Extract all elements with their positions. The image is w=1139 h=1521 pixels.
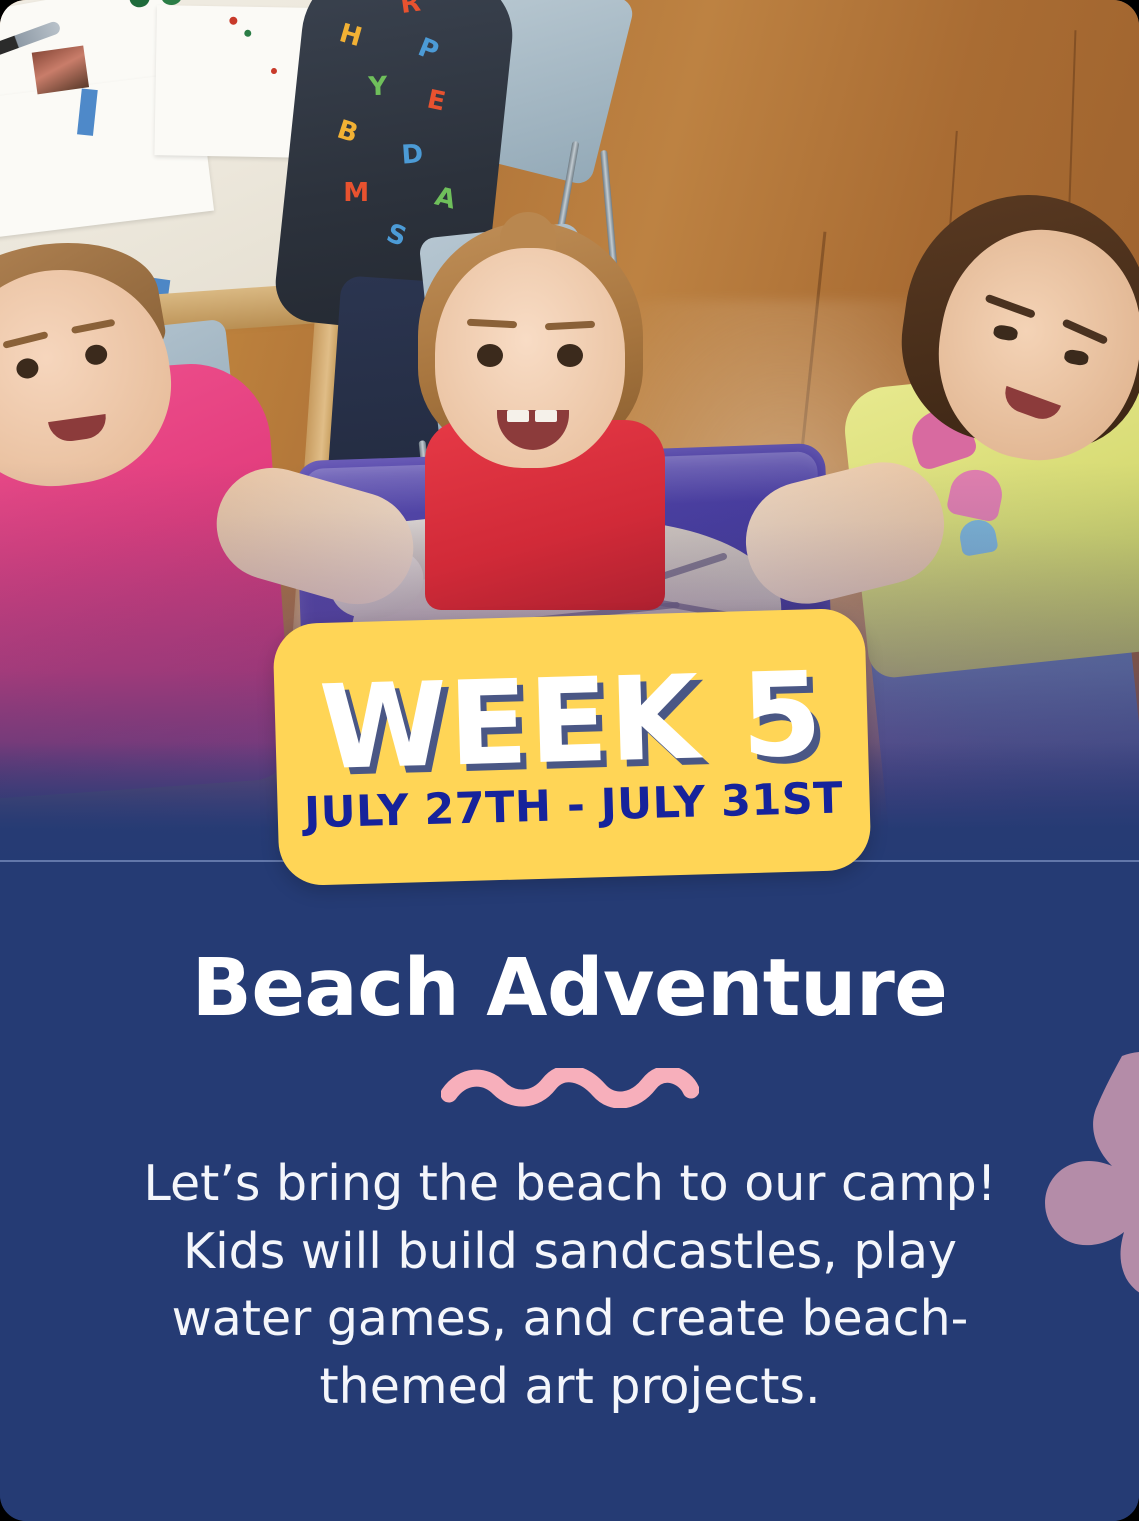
page-title: Beach Adventure [0, 942, 1139, 1034]
printed-photo [32, 46, 89, 95]
body-line: Let’s bring the beach to our camp! [140, 1150, 1000, 1218]
week-card: RHPYEBDAMS [0, 0, 1139, 1521]
week-label: WEEK 5 [318, 660, 824, 783]
tooth [535, 410, 557, 422]
sweater-letter: E [424, 85, 448, 118]
eyebrow [545, 321, 595, 331]
eyebrow [1061, 318, 1108, 345]
sweater-letter: R [398, 0, 422, 20]
sweater-letter: S [382, 218, 410, 253]
mouth [1000, 386, 1061, 425]
panel-body-text: Let’s bring the beach to our camp! Kids … [140, 1150, 1000, 1420]
sweater-letter: P [414, 32, 443, 67]
sweater-letter: Y [368, 72, 388, 103]
sweater-letter: M [343, 178, 369, 208]
eye [557, 344, 583, 367]
tooth [507, 410, 529, 422]
flower-blob-icon [1014, 1050, 1139, 1298]
eyebrow [71, 319, 116, 334]
body-line: themed art projects. [140, 1353, 1000, 1421]
eye [15, 357, 40, 380]
eyebrow [984, 294, 1036, 319]
body-line: water games, and create beach- [140, 1285, 1000, 1353]
wavy-divider-icon [441, 1068, 699, 1108]
eye [993, 324, 1019, 342]
sweater-letter: D [401, 139, 425, 170]
eye [84, 343, 109, 366]
sweater-letter: H [336, 18, 365, 53]
sweater-letter: A [432, 182, 459, 216]
eyebrow [467, 319, 517, 329]
sweater-letter: B [333, 115, 361, 150]
mouth [48, 414, 108, 444]
mouth [497, 410, 569, 450]
eye [477, 344, 503, 367]
eyebrow [2, 331, 48, 349]
child-center-face [435, 248, 625, 468]
week-badge: WEEK 5 JULY 27TH - JULY 31ST [272, 608, 871, 886]
eye [1063, 349, 1089, 367]
info-panel: Beach Adventure Let’s bring the beach to… [0, 862, 1139, 1521]
body-line: Kids will build sandcastles, play [140, 1218, 1000, 1286]
